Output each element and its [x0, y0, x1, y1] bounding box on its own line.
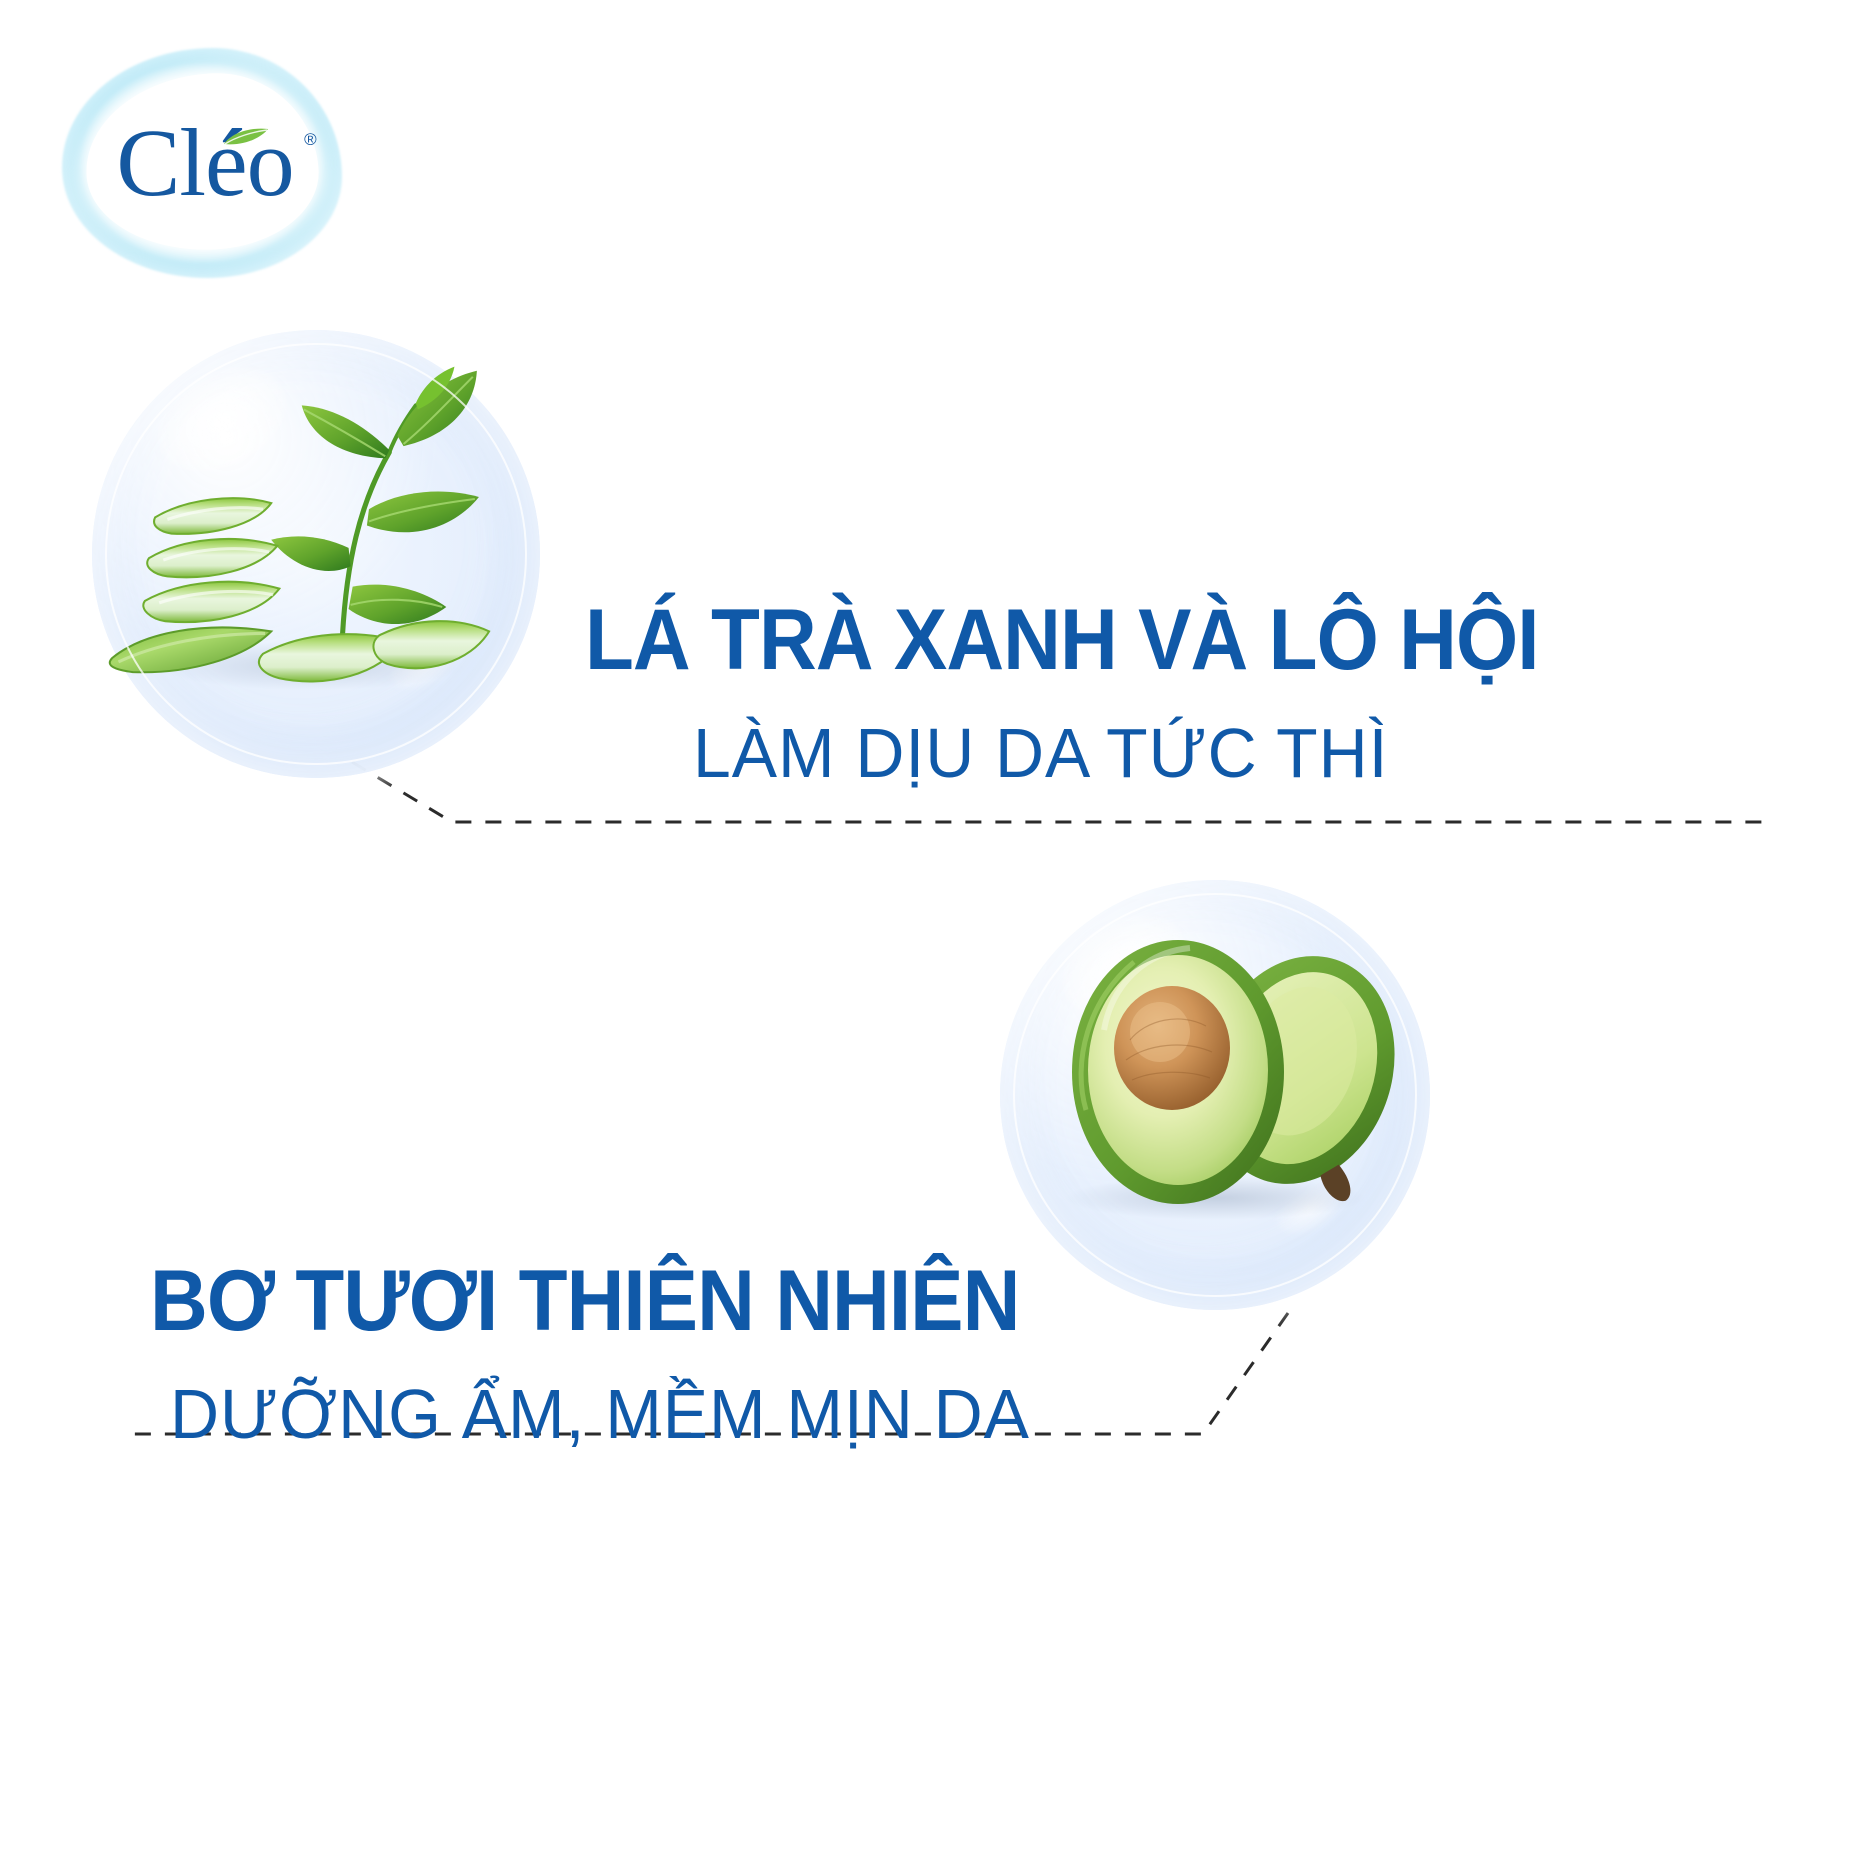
cleo-ingredient-infographic: { "brand": { "logo_text": "Cléo", "regis…: [0, 0, 1875, 1875]
green-tea-sprig: [271, 367, 479, 636]
headline-avocado: BƠ TƯƠI THIÊN NHIÊN: [150, 1258, 1019, 1344]
logo-wordmark: Cléo ®: [110, 115, 293, 211]
connector-lines: [0, 0, 1875, 1875]
logo-wordmark-text: Cléo: [116, 109, 293, 216]
ingredient-bubble-avocado: [1000, 880, 1430, 1310]
logo-text-group: Cléo ®: [62, 48, 342, 278]
avocado-front-half: [1072, 940, 1284, 1204]
registered-trademark-icon: ®: [304, 131, 316, 148]
ingredient-bubble-green-tea-aloe: [92, 330, 540, 778]
subline-avocado: DƯỠNG ẨM, MỀM MỊN DA: [170, 1379, 1030, 1449]
subline-green-tea-aloe: LÀM DỊU DA TỨC THÌ: [693, 718, 1388, 788]
brand-logo: Cléo ®: [62, 48, 342, 278]
leaf-icon: [222, 127, 270, 147]
aloe-vera-and-green-tea-icon: [92, 330, 540, 778]
headline-green-tea-aloe: LÁ TRÀ XANH VÀ LÔ HỘI: [585, 597, 1539, 683]
avocado-icon: [1000, 880, 1430, 1310]
